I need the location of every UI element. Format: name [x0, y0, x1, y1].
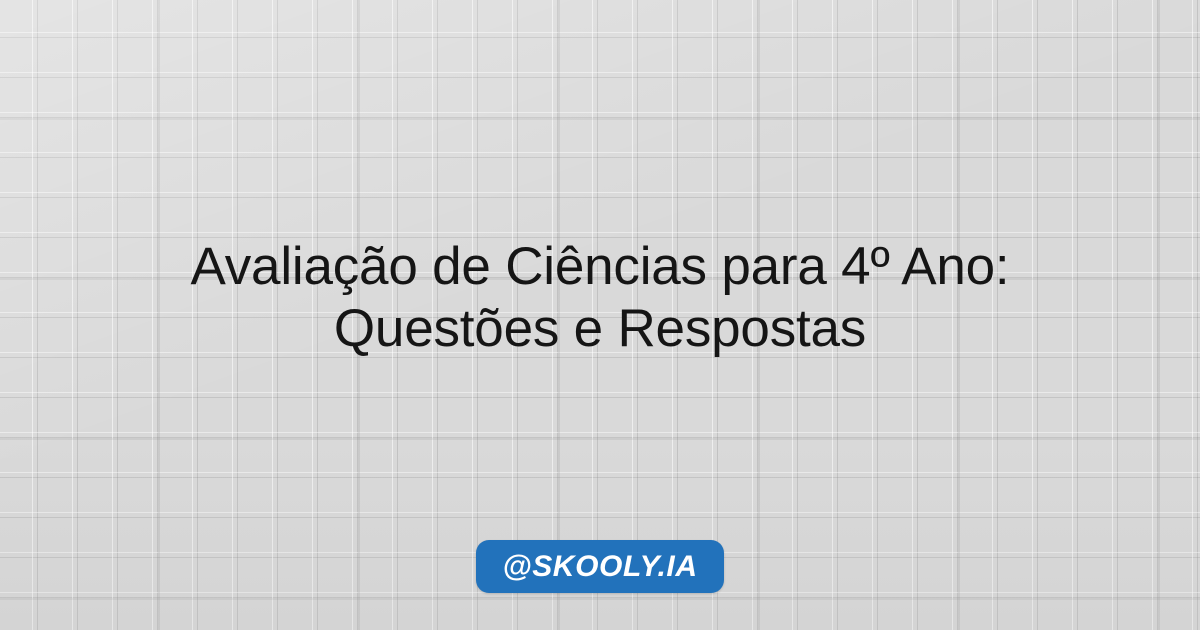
watermark-badge-label: @SKOOLY.IA — [502, 552, 697, 582]
page-title-line-1: Avaliação de Ciências para 4º Ano: — [40, 236, 1160, 298]
social-share-card: Avaliação de Ciências para 4º Ano: Quest… — [0, 0, 1200, 630]
watermark-badge-wrap: @SKOOLY.IA — [0, 540, 1200, 593]
watermark-badge: @SKOOLY.IA — [476, 540, 723, 593]
page-title: Avaliação de Ciências para 4º Ano: Quest… — [40, 236, 1160, 360]
title-block: Avaliação de Ciências para 4º Ano: Quest… — [40, 236, 1160, 360]
page-title-line-2: Questões e Respostas — [40, 298, 1160, 360]
